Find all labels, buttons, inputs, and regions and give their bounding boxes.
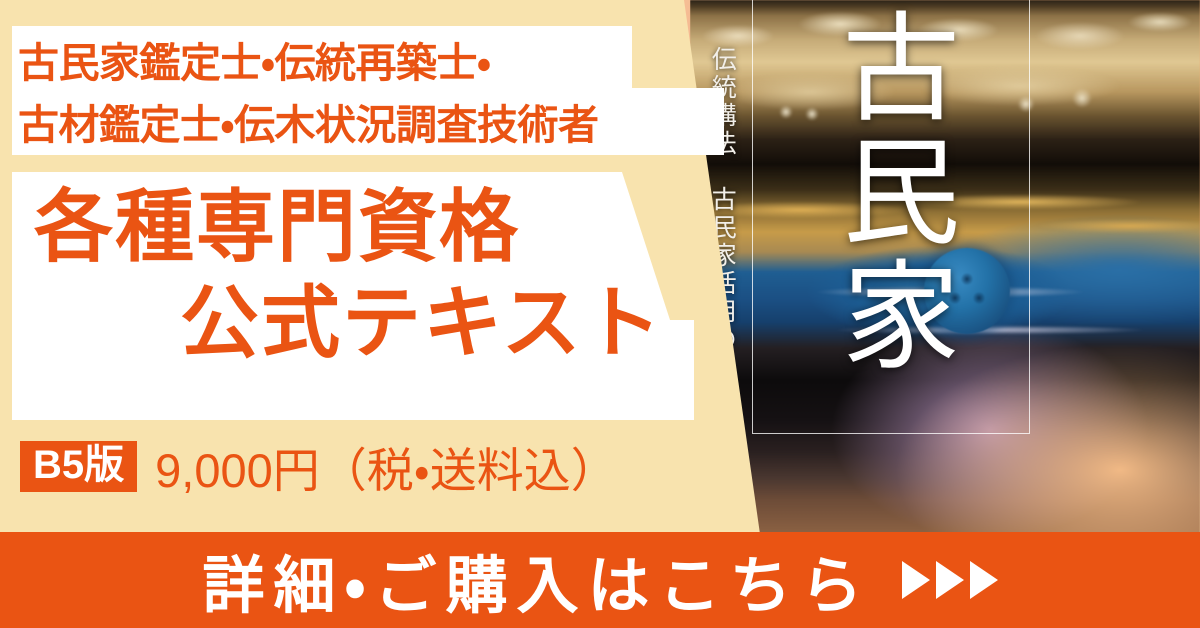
heading-panel: 各種専門資格 公式テキスト [12, 172, 694, 420]
heading-line-2: 公式テキスト [180, 282, 664, 365]
book-cover-image: 古民家 伝統構法 古民家活用のための調査と再生の [690, 0, 1200, 534]
cta-arrows [902, 561, 998, 599]
promo-banner: 古民家 伝統構法 古民家活用のための調査と再生の 古民家鑑定士・伝統再築士・ 古… [0, 0, 1200, 628]
qualifications-panel: 古民家鑑定士・伝統再築士・ 古材鑑定士・伝木状況調査技術者 [12, 26, 724, 155]
heading-line-1: 各種専門資格 [34, 186, 520, 269]
arrow-right-icon-2 [936, 561, 964, 599]
arrow-right-icon-1 [902, 561, 930, 599]
qualifications-line-1: 古民家鑑定士・伝統再築士・ [18, 32, 724, 94]
price-row: B5版 9,000円（税・送料込） [20, 432, 618, 501]
format-badge: B5版 [20, 441, 137, 492]
cta-bar[interactable]: 詳細・ご購入はこちら [0, 532, 1200, 628]
qualifications-line-2: 古材鑑定士・伝木状況調査技術者 [18, 94, 724, 156]
book-cover-title: 古民家 [764, 6, 1014, 426]
arrow-right-icon-3 [970, 561, 998, 599]
cta-label: 詳細・ご購入はこちら [202, 535, 871, 625]
book-cover-title-text: 古民家 [819, 6, 958, 378]
price-text: 9,000円（税・送料込） [155, 432, 618, 501]
